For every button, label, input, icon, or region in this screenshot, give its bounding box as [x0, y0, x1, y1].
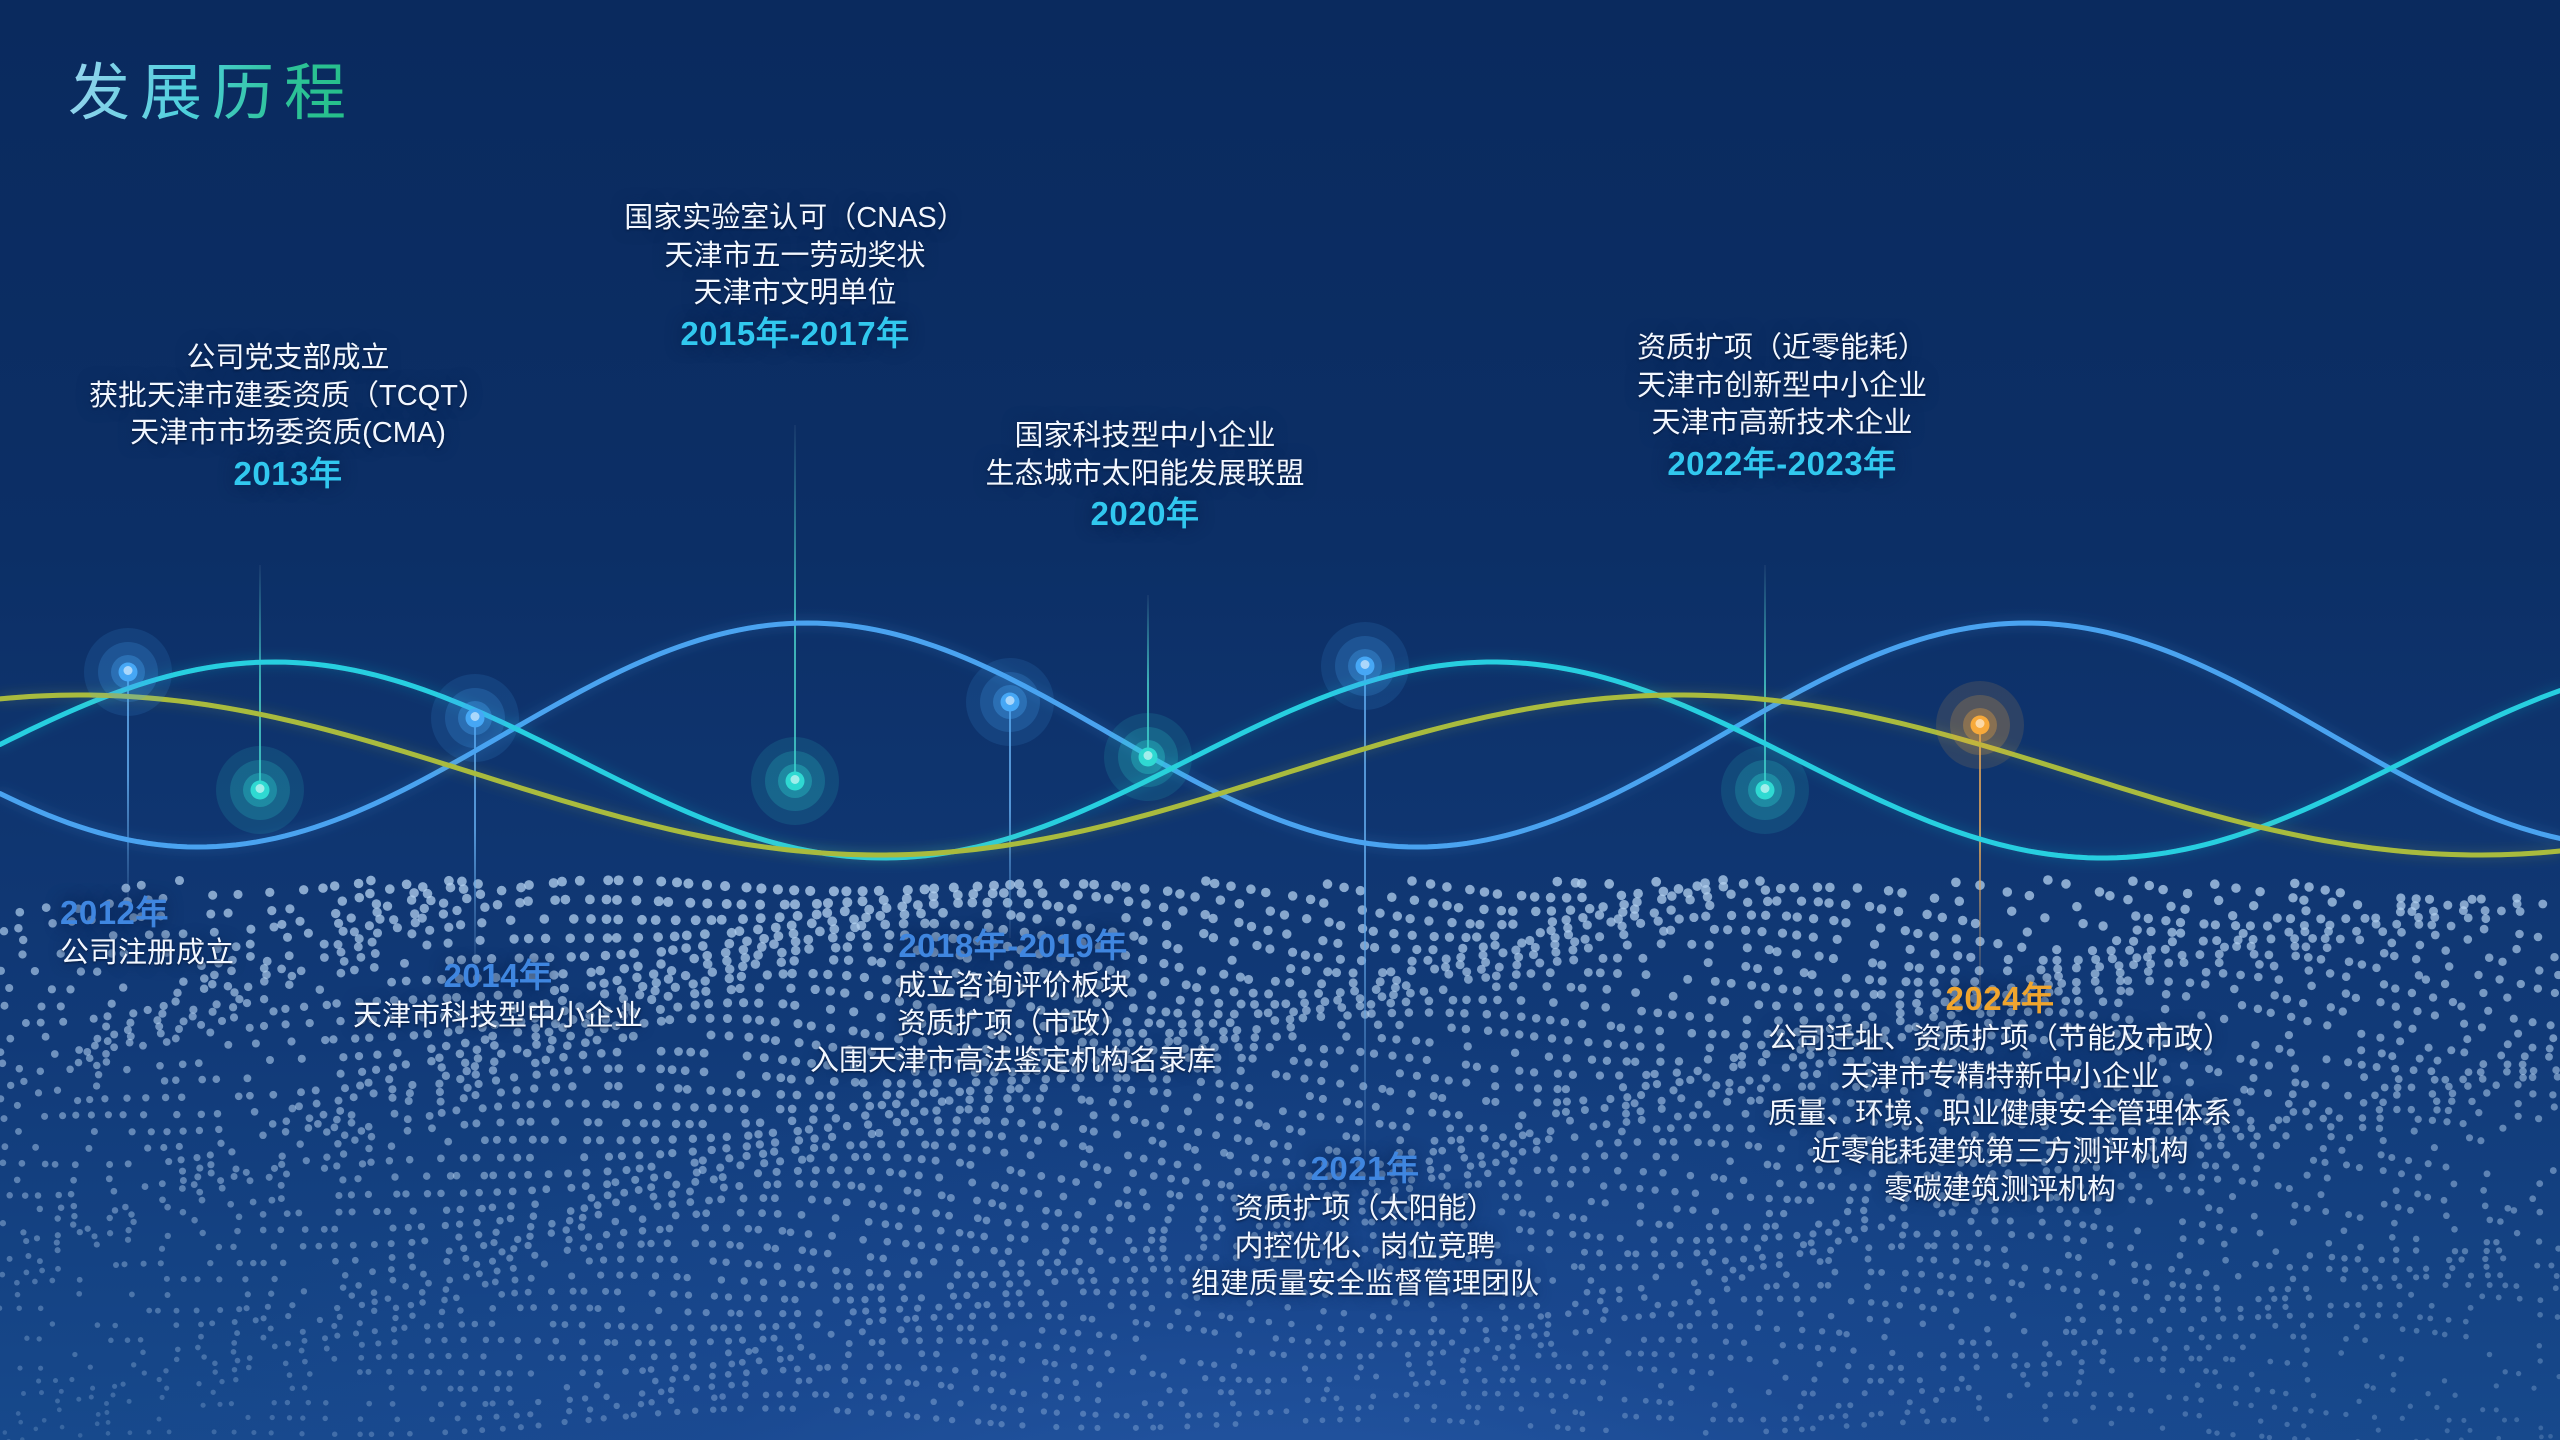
- event-block-2021[interactable]: 2021年资质扩项（太阳能）内控优化、岗位竞聘组建质量安全监督管理团队: [1090, 1148, 1640, 1304]
- event-year-2018-2019: 2018年-2019年: [718, 925, 1308, 968]
- event-line: 国家科技型中小企业: [885, 418, 1405, 456]
- event-line: 公司迁址、资质扩项（节能及市政）: [1620, 1021, 2380, 1059]
- event-line: 零碳建筑测评机构: [1620, 1172, 2380, 1210]
- event-line: 天津市五一劳动奖状: [525, 238, 1065, 276]
- event-line: 成立咨询评价板块: [718, 968, 1308, 1006]
- event-block-2013[interactable]: 公司党支部成立获批天津市建委资质（TCQT）天津市市场委资质(CMA)2013年: [18, 340, 558, 496]
- event-line: 近零能耗建筑第三方测评机构: [1620, 1134, 2380, 1172]
- event-line: 天津市创新型中小企业: [1512, 368, 2052, 406]
- event-line: 获批天津市建委资质（TCQT）: [18, 378, 558, 416]
- event-block-2024[interactable]: 2024年公司迁址、资质扩项（节能及市政）天津市专精特新中小企业质量、环境、职业…: [1620, 978, 2380, 1209]
- event-line: 内控优化、岗位竞聘: [1090, 1229, 1640, 1267]
- event-block-2022-2023[interactable]: 资质扩项（近零能耗）天津市创新型中小企业天津市高新技术企业2022年-2023年: [1512, 330, 2052, 486]
- event-label-layer: 2012年公司注册成立公司党支部成立获批天津市建委资质（TCQT）天津市市场委资…: [0, 0, 2560, 1440]
- event-block-2012[interactable]: 2012年公司注册成立: [60, 892, 234, 973]
- event-line: 组建质量安全监督管理团队: [1090, 1266, 1640, 1304]
- event-line: 天津市文明单位: [525, 275, 1065, 313]
- event-line: 生态城市太阳能发展联盟: [885, 456, 1405, 494]
- event-year-2024: 2024年: [1620, 978, 2380, 1021]
- event-line: 天津市科技型中小企业: [268, 998, 728, 1036]
- event-line: 资质扩项（市政）: [718, 1006, 1308, 1044]
- page-title: 发展历程: [68, 42, 356, 132]
- event-block-2018-2019[interactable]: 2018年-2019年成立咨询评价板块资质扩项（市政）入围天津市高法鉴定机构名录…: [718, 925, 1308, 1081]
- event-year-2021: 2021年: [1090, 1148, 1640, 1191]
- timeline-canvas: 发展历程 2012年公司注册成立公司党支部成立获批天津市建委资质（TCQT）天津…: [0, 0, 2560, 1440]
- event-block-2015-2017[interactable]: 国家实验室认可（CNAS）天津市五一劳动奖状天津市文明单位2015年-2017年: [525, 200, 1065, 356]
- event-block-2014[interactable]: 2014年天津市科技型中小企业: [268, 955, 728, 1036]
- event-line: 公司注册成立: [60, 935, 234, 973]
- event-year-2022-2023: 2022年-2023年: [1512, 443, 2052, 486]
- event-line: 天津市高新技术企业: [1512, 405, 2052, 443]
- event-line: 资质扩项（近零能耗）: [1512, 330, 2052, 368]
- event-year-2020: 2020年: [885, 493, 1405, 536]
- event-line: 天津市专精特新中小企业: [1620, 1059, 2380, 1097]
- event-year-2012: 2012年: [60, 892, 234, 935]
- event-year-2015-2017: 2015年-2017年: [525, 313, 1065, 356]
- event-line: 质量、环境、职业健康安全管理体系: [1620, 1096, 2380, 1134]
- event-year-2014: 2014年: [268, 955, 728, 998]
- event-line: 入围天津市高法鉴定机构名录库: [718, 1043, 1308, 1081]
- event-year-2013: 2013年: [18, 453, 558, 496]
- event-block-2020[interactable]: 国家科技型中小企业生态城市太阳能发展联盟2020年: [885, 418, 1405, 536]
- event-line: 国家实验室认可（CNAS）: [525, 200, 1065, 238]
- event-line: 资质扩项（太阳能）: [1090, 1191, 1640, 1229]
- event-line: 公司党支部成立: [18, 340, 558, 378]
- event-line: 天津市市场委资质(CMA): [18, 415, 558, 453]
